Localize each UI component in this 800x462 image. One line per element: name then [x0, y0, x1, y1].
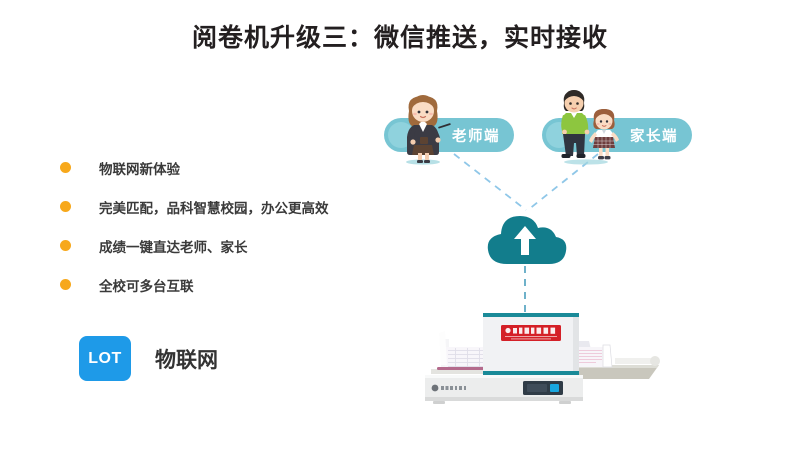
- list-item: 全校可多台互联: [60, 265, 390, 304]
- teacher-character-icon: [392, 93, 454, 165]
- bullet-dot-icon: [60, 162, 71, 173]
- list-item: 完美匹配，品科智慧校园，办公更高效: [60, 187, 390, 226]
- list-item: 成绩一键直达老师、家长: [60, 226, 390, 265]
- list-item-label: 物联网新体验: [99, 158, 180, 178]
- slide-canvas: 阅卷机升级三：微信推送，实时接收 物联网新体验 完美匹配，品科智慧校园，办公更高…: [0, 0, 800, 462]
- feature-list: 物联网新体验 完美匹配，品科智慧校园，办公更高效 成绩一键直达老师、家长 全校可…: [60, 148, 390, 304]
- bullet-dot-icon: [60, 279, 71, 290]
- cloud-upload-icon: [483, 208, 567, 270]
- list-item-label: 完美匹配，品科智慧校园，办公更高效: [99, 197, 329, 217]
- list-item-label: 成绩一键直达老师、家长: [99, 236, 248, 256]
- endpoint-pill-label: 家长端: [630, 125, 692, 146]
- iot-label: 物联网: [155, 344, 218, 374]
- iot-badge: LOT: [79, 336, 131, 381]
- bullet-dot-icon: [60, 240, 71, 251]
- list-item-label: 全校可多台互联: [99, 275, 194, 295]
- iot-tag: LOT 物联网: [79, 336, 218, 381]
- list-item: 物联网新体验: [60, 148, 390, 187]
- parent-child-character-icon: [548, 86, 624, 165]
- bullet-dot-icon: [60, 201, 71, 212]
- endpoint-pill-label: 老师端: [452, 125, 514, 146]
- page-title: 阅卷机升级三：微信推送，实时接收: [0, 18, 800, 54]
- omr-scanner-machine-icon: [415, 303, 680, 408]
